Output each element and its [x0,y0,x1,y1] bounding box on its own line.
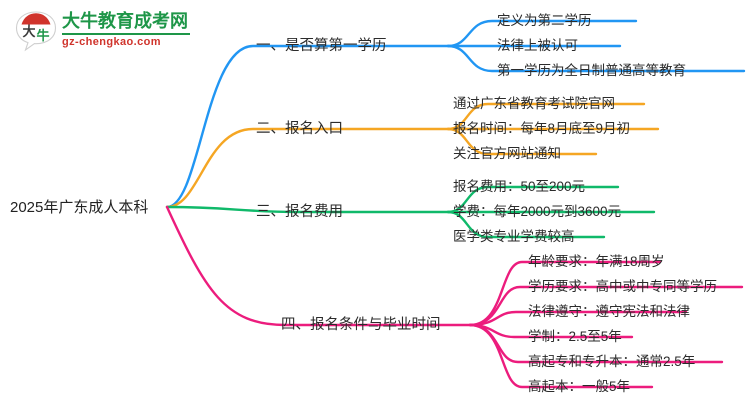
leaf-node-4-3[interactable]: 法律遵守：遵守宪法和法律 [528,305,690,319]
branch-node-2[interactable]: 二、报名入口 [256,122,343,137]
leaf-node-3-1[interactable]: 报名费用：50至200元 [453,180,585,194]
wire-root-to-branch-2 [167,129,448,207]
leaf-node-1-2[interactable]: 法律上被认可 [497,39,578,53]
leaf-node-4-2[interactable]: 学历要求：高中或中专同等学历 [528,280,717,294]
logo-domain: gz-chengkao.com [62,36,194,49]
leaf-node-3-3[interactable]: 医学类专业学费较高 [453,230,575,244]
logo-divider [62,33,190,35]
leaf-node-4-1[interactable]: 年龄要求：年满18周岁 [528,255,665,269]
root-node[interactable]: 2025年广东成人本科 [10,200,148,215]
leaf-node-2-2[interactable]: 报名时间：每年8月底至9月初 [453,122,630,136]
leaf-node-4-6[interactable]: 高起本：一般5年 [528,380,630,394]
logo-title: 大牛教育成考网 [62,11,194,32]
leaf-node-4-4[interactable]: 学制：2.5至5年 [528,330,622,344]
leaf-node-1-1[interactable]: 定义为第二学历 [497,14,592,28]
wire-root-to-branch-4 [167,207,470,325]
site-logo[interactable]: 大 牛 大牛教育成考网 gz-chengkao.com [14,8,194,56]
daniu-speech-bubble-logo-icon: 大 牛 [14,10,58,52]
branch-node-3[interactable]: 三、报名费用 [256,205,343,220]
leaf-node-4-5[interactable]: 高起专和专升本：通常2.5年 [528,355,695,369]
mindmap-canvas: 大 牛 大牛教育成考网 gz-chengkao.com 2025年广东成人本科 … [0,0,750,410]
leaf-node-2-1[interactable]: 通过广东省教育考试院官网 [453,97,615,111]
svg-text:大: 大 [22,24,35,39]
leaf-node-2-3[interactable]: 关注官方网站通知 [453,147,561,161]
branch-node-4[interactable]: 四、报名条件与毕业时间 [281,318,441,333]
branch-node-1[interactable]: 一、是否算第一学历 [256,39,387,54]
leaf-node-3-2[interactable]: 学费：每年2000元到3600元 [453,205,621,219]
leaf-node-1-3[interactable]: 第一学历为全日制普通高等教育 [497,64,686,78]
svg-text:牛: 牛 [36,28,49,43]
